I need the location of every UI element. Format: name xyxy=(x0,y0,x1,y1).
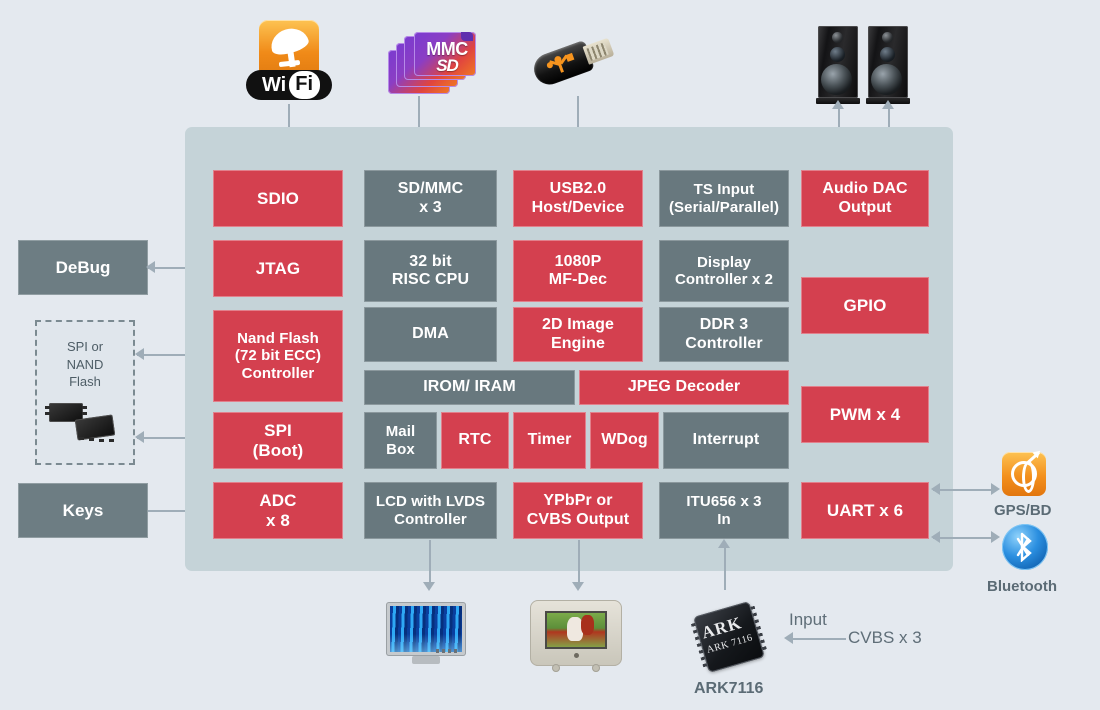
arrow-head-gps-out xyxy=(991,483,1000,495)
block-spi-boot-label: SPI(Boot) xyxy=(250,421,307,460)
block-usb2[interactable]: USB2.0Host/Device xyxy=(513,170,643,227)
block-nand-flash-controller[interactable]: Nand Flash(72 bit ECC)Controller xyxy=(213,310,343,402)
block-timer-label: Timer xyxy=(525,431,575,449)
wifi-badge: Wi Fi xyxy=(246,70,332,100)
arrow-head-debug xyxy=(146,261,155,273)
block-irom-iram[interactable]: IROM/ IRAM xyxy=(364,370,575,405)
gps-caption: GPS/BD xyxy=(994,502,1052,519)
block-lcd-lvds-controller[interactable]: LCD with LVDSController xyxy=(364,482,497,539)
block-jtag[interactable]: JTAG xyxy=(213,240,343,297)
arrow-head-lcd xyxy=(423,582,435,591)
block-ts-input-label: TS Input(Serial/Parallel) xyxy=(666,181,782,216)
block-timer[interactable]: Timer xyxy=(513,412,586,469)
flash-chip-2 xyxy=(71,415,123,445)
block-gpio[interactable]: GPIO xyxy=(801,277,929,334)
arrow-head-headrest xyxy=(572,582,584,591)
block-ddr3-controller[interactable]: DDR 3Controller xyxy=(659,307,789,362)
block-jtag-label: JTAG xyxy=(253,259,303,279)
diagram-canvas: Wi Fi MMC SD DeBug SPI xyxy=(0,0,1100,710)
arrow-head-gps-in xyxy=(931,483,940,495)
block-mail-box-label: MailBox xyxy=(383,423,419,458)
arrow-head-speaker-left xyxy=(832,100,844,109)
block-uart[interactable]: UART x 6 xyxy=(801,482,929,539)
usb-connector-shape xyxy=(583,38,615,65)
block-sdio-label: SDIO xyxy=(254,189,302,209)
usb-flash-drive-icon xyxy=(525,17,627,105)
block-itu656-in-label: ITU656 x 3In xyxy=(683,493,764,528)
block-irom-iram-label: IROM/ IRAM xyxy=(420,378,519,396)
arrow-head-bluetooth-out xyxy=(991,531,1000,543)
arrow-line-headrest xyxy=(578,540,580,584)
sd-card-front xyxy=(414,32,476,76)
debug-label: DeBug xyxy=(56,258,111,278)
block-spi-boot[interactable]: SPI(Boot) xyxy=(213,412,343,469)
block-lcd-lvds-controller-label: LCD with LVDSController xyxy=(373,493,488,528)
block-usb2-label: USB2.0Host/Device xyxy=(529,180,628,217)
block-ts-input[interactable]: TS Input(Serial/Parallel) xyxy=(659,170,789,227)
lcd-monitor-icon xyxy=(386,602,466,664)
block-2d-image-engine[interactable]: 2D ImageEngine xyxy=(513,307,643,362)
cvbs-annotation: CVBS x 3 xyxy=(848,628,922,648)
wifi-badge-right: Fi xyxy=(295,73,313,95)
block-ddr3-controller-label: DDR 3Controller xyxy=(682,316,765,353)
block-adc-label: ADCx 8 xyxy=(256,491,299,530)
block-pwm[interactable]: PWM x 4 xyxy=(801,386,929,443)
wifi-badge-left: Wi xyxy=(258,75,287,95)
block-audio-dac-output-label: Audio DACOutput xyxy=(819,180,910,217)
block-ypbpr-cvbs-output-label: YPbPr orCVBS Output xyxy=(524,492,632,529)
ark-chip-icon: ARK ARK 7116 xyxy=(692,600,768,676)
block-audio-dac-output[interactable]: Audio DACOutput xyxy=(801,170,929,227)
arrow-head-itu656 xyxy=(718,539,730,548)
arrow-line-gps xyxy=(933,489,995,491)
speaker-left-icon xyxy=(816,26,860,108)
input-annotation: Input xyxy=(789,610,827,630)
block-risc-cpu[interactable]: 32 bitRISC CPU xyxy=(364,240,497,302)
speaker-right-icon xyxy=(866,26,910,108)
block-interrupt[interactable]: Interrupt xyxy=(663,412,789,469)
arrow-head-nand xyxy=(135,348,144,360)
block-jpeg-decoder[interactable]: JPEG Decoder xyxy=(579,370,789,405)
block-risc-cpu-label: 32 bitRISC CPU xyxy=(389,253,472,290)
block-mail-box[interactable]: MailBox xyxy=(364,412,437,469)
arrow-line-cvbs xyxy=(790,638,846,640)
block-sdio[interactable]: SDIO xyxy=(213,170,343,227)
block-uart-label: UART x 6 xyxy=(824,501,906,521)
block-ypbpr-cvbs-output[interactable]: YPbPr orCVBS Output xyxy=(513,482,643,539)
sd-mmc-card-icon: MMC SD xyxy=(388,32,480,94)
flash-caption: SPI orNANDFlash xyxy=(37,338,133,391)
arrow-head-speaker-right xyxy=(882,100,894,109)
block-display-controller-label: DisplayController x 2 xyxy=(672,254,776,289)
block-dma-label: DMA xyxy=(409,325,452,343)
block-2d-image-engine-label: 2D ImageEngine xyxy=(539,316,617,353)
block-display-controller[interactable]: DisplayController x 2 xyxy=(659,240,789,302)
block-itu656-in[interactable]: ITU656 x 3In xyxy=(659,482,789,539)
block-wdog[interactable]: WDog xyxy=(590,412,659,469)
arrow-line-lcd xyxy=(429,540,431,584)
keys-label: Keys xyxy=(63,501,104,521)
block-rtc[interactable]: RTC xyxy=(441,412,509,469)
block-interrupt-label: Interrupt xyxy=(690,431,763,449)
bluetooth-caption: Bluetooth xyxy=(987,578,1057,595)
block-nand-flash-controller-label: Nand Flash(72 bit ECC)Controller xyxy=(232,330,324,382)
block-rtc-label: RTC xyxy=(455,431,494,449)
ark-chip-caption: ARK7116 xyxy=(694,680,763,698)
block-jpeg-decoder-label: JPEG Decoder xyxy=(625,378,743,396)
block-1080p-mfdec[interactable]: 1080PMF-Dec xyxy=(513,240,643,302)
bluetooth-icon xyxy=(1002,524,1048,570)
headrest-monitor-icon xyxy=(530,600,622,666)
block-pwm-label: PWM x 4 xyxy=(827,405,904,425)
external-flash-box: SPI orNANDFlash xyxy=(35,320,135,465)
block-adc[interactable]: ADCx 8 xyxy=(213,482,343,539)
arrow-head-spi xyxy=(135,431,144,443)
wifi-badge-right-wrap: Fi xyxy=(289,71,320,99)
bluetooth-rune xyxy=(1015,532,1035,562)
arrow-line-bluetooth xyxy=(933,537,995,539)
external-debug-box: DeBug xyxy=(18,240,148,295)
block-1080p-mfdec-label: 1080PMF-Dec xyxy=(546,253,610,290)
block-gpio-label: GPIO xyxy=(841,296,890,316)
block-sd-mmc[interactable]: SD/MMCx 3 xyxy=(364,170,497,227)
gps-icon xyxy=(1002,452,1046,496)
block-wdog-label: WDog xyxy=(598,431,651,449)
external-keys-box: Keys xyxy=(18,483,148,538)
arrow-head-cvbs xyxy=(784,632,793,644)
arrow-head-bluetooth-in xyxy=(931,531,940,543)
arrow-line-itu656 xyxy=(724,545,726,590)
block-dma[interactable]: DMA xyxy=(364,307,497,362)
block-sd-mmc-label: SD/MMCx 3 xyxy=(395,180,466,217)
